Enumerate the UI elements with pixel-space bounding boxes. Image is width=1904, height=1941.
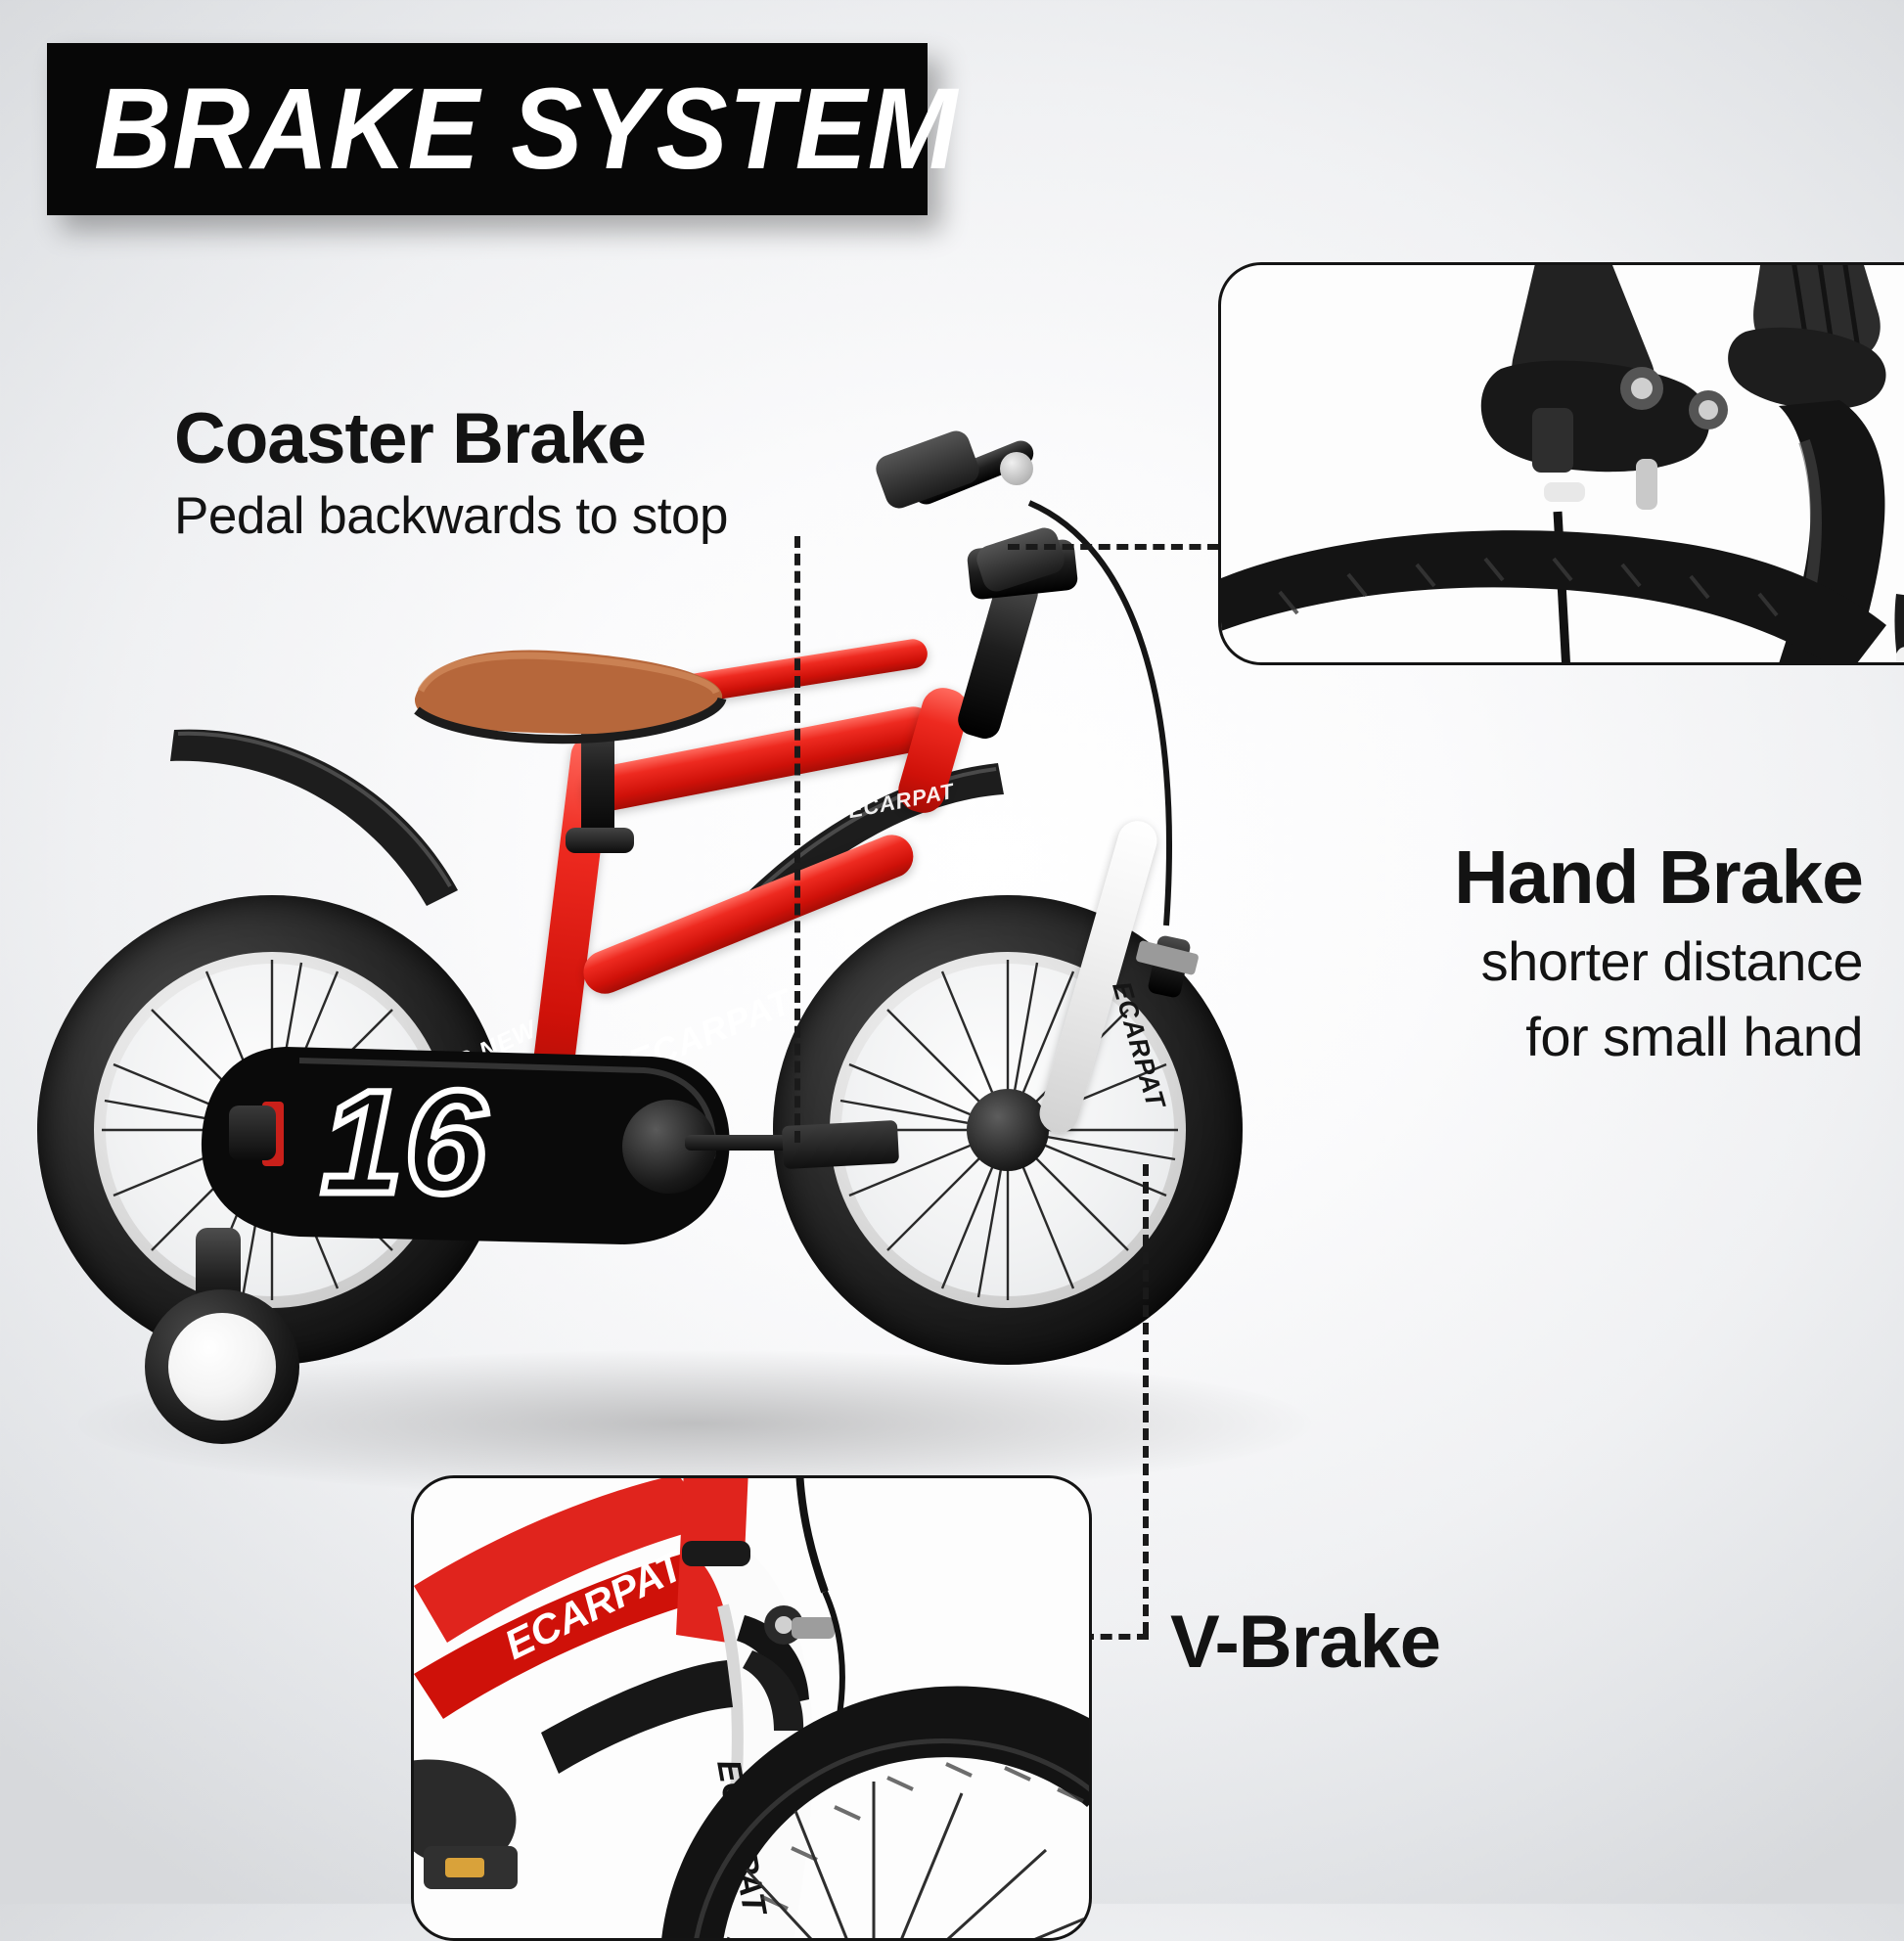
callout-coaster-brake: Coaster Brake Pedal backwards to stop [174,403,728,547]
inset-tire-fragment [1221,510,1904,665]
inset-panel-v-brake: ECARPAT ECARPAT [411,1475,1092,1941]
page-title: BRAKE SYSTEM [94,71,958,187]
inset-panel-hand-brake [1218,262,1904,665]
seatpost-clamp [566,828,634,853]
brake-cable [1018,489,1243,929]
callout-handbrake-subtitle-line2: for small hand [1454,1006,1863,1068]
leader-line-vbrake-vertical [1143,1164,1149,1634]
saddle [407,636,730,763]
title-banner: BRAKE SYSTEM [47,43,928,215]
chainguard-number: 16 [321,1068,488,1215]
infographic-canvas: BRAKE SYSTEM [0,0,1904,1904]
callout-handbrake-title: Hand Brake [1454,839,1863,917]
training-wheel-hub [168,1313,276,1421]
front-hub [967,1089,1049,1171]
callout-handbrake-subtitle-line1: shorter distance [1454,930,1863,993]
leader-line-vbrake-horizontal [1082,1634,1149,1640]
callout-vbrake-title: V-Brake [1170,1604,1440,1681]
inset-front-tire [551,1625,1092,1941]
crank-bolt [229,1106,276,1160]
bell [1000,452,1033,485]
callout-v-brake: V-Brake [1170,1604,1440,1681]
callout-hand-brake: Hand Brake shorter distance for small ha… [1454,839,1863,1068]
callout-coaster-title: Coaster Brake [174,403,728,475]
leader-line-handbrake [1008,544,1219,550]
leader-line-coaster [794,536,800,1143]
callout-coaster-subtitle: Pedal backwards to stop [174,487,728,546]
